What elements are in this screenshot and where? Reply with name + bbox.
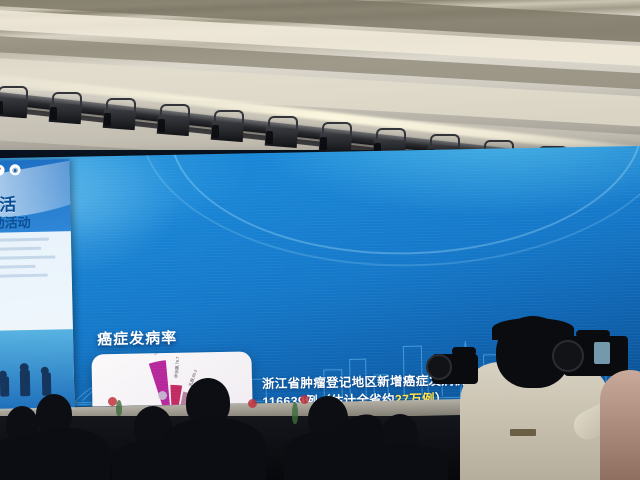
stage-light (48, 101, 82, 127)
heart-icon: ♥ (0, 165, 5, 176)
table-flower (248, 399, 257, 408)
banner-body-text (0, 231, 73, 333)
stage-light (102, 107, 136, 133)
table-leaf (292, 402, 298, 424)
banner-logos: ♥ ◉ (0, 164, 21, 176)
stage-light (264, 125, 298, 151)
banner-subtitle: 启动活动 (0, 211, 75, 232)
camera-viewfinder-screen (594, 342, 610, 364)
audience-shoulders (360, 444, 448, 480)
stage-light (0, 95, 28, 121)
camera-handle (452, 347, 476, 356)
camera-lens-icon (552, 340, 584, 372)
slide-title: 癌症发病率 (97, 327, 177, 350)
seal-icon: ◉ (9, 164, 20, 175)
camera-lens-icon (426, 354, 452, 380)
audience-shoulders (18, 428, 110, 480)
screen-arc-decoration (136, 146, 640, 272)
operator-collar-tag (510, 429, 536, 436)
table-flower (158, 391, 167, 400)
conference-hall-photo: 癌症发病率 肺,128.6甲状腺,76.7乳腺,65.2结肠肛,44.2结直肠,… (0, 0, 640, 480)
stage-light (210, 119, 244, 145)
audience-shoulders (160, 418, 266, 480)
second-operator-arm (600, 370, 640, 480)
table-flower (300, 395, 309, 404)
table-leaf (116, 400, 122, 416)
camera-handle (576, 330, 610, 338)
operator-hair (492, 318, 574, 340)
stage-light (156, 113, 190, 139)
